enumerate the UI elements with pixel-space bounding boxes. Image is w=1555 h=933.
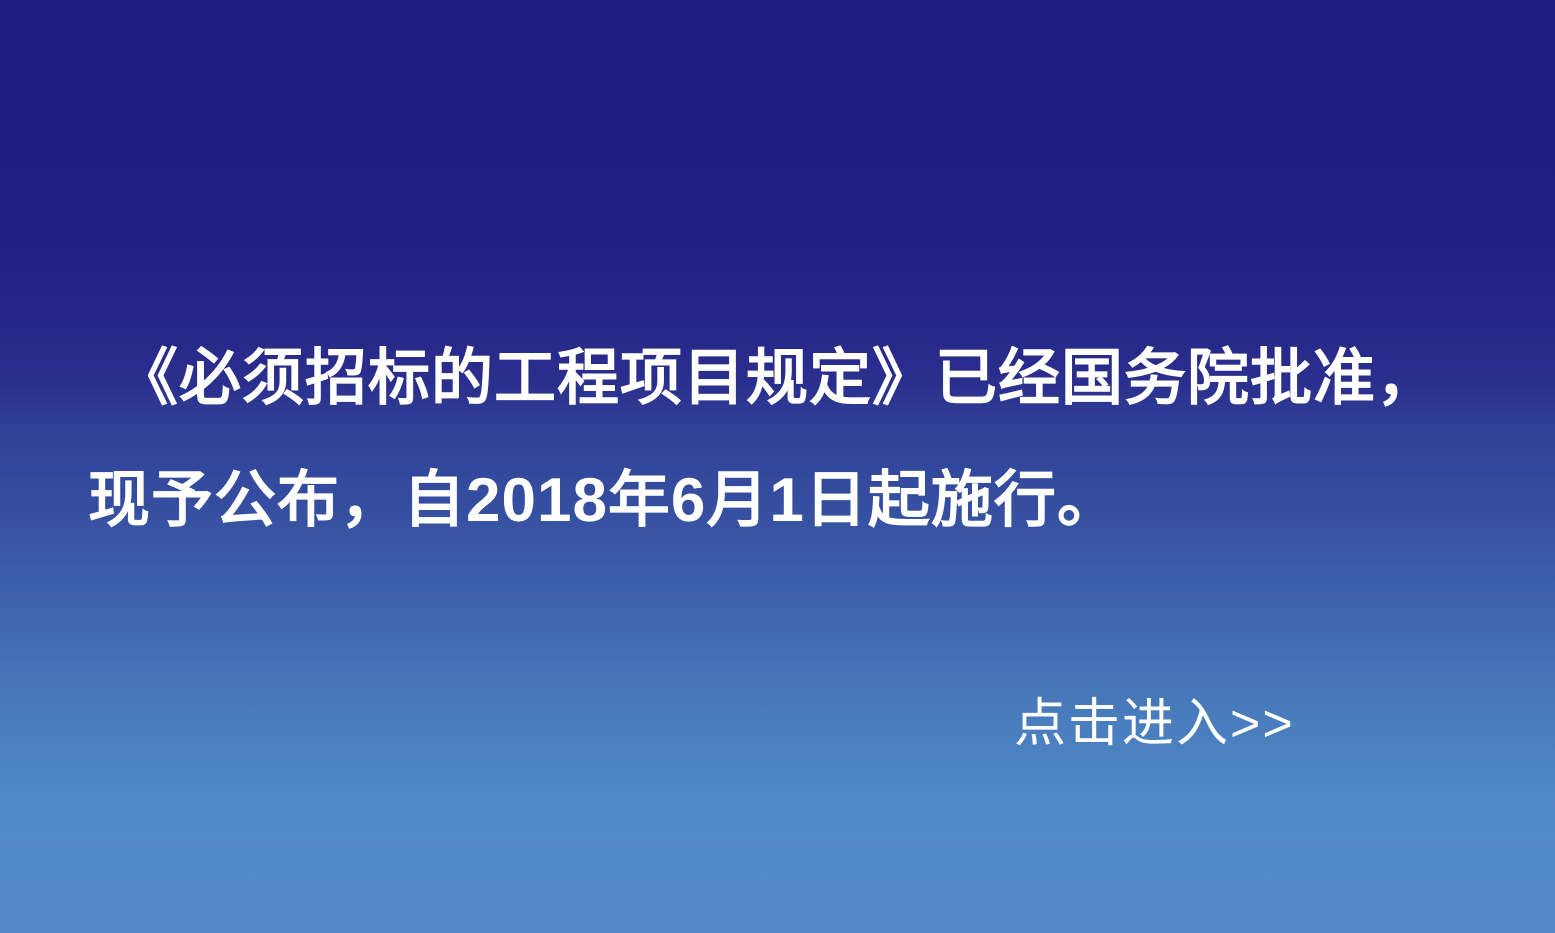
enter-link[interactable]: 点击进入>>	[1014, 693, 1295, 755]
statement-line-1: 《必须招标的工程项目规定》已经国务院批准，	[116, 348, 1439, 410]
announcement-banner: 《必须招标的工程项目规定》已经国务院批准， 现予公布，自2018年6月1日起施行…	[0, 0, 1555, 933]
statement-line-2: 现予公布，自2018年6月1日起施行。	[88, 470, 1120, 532]
